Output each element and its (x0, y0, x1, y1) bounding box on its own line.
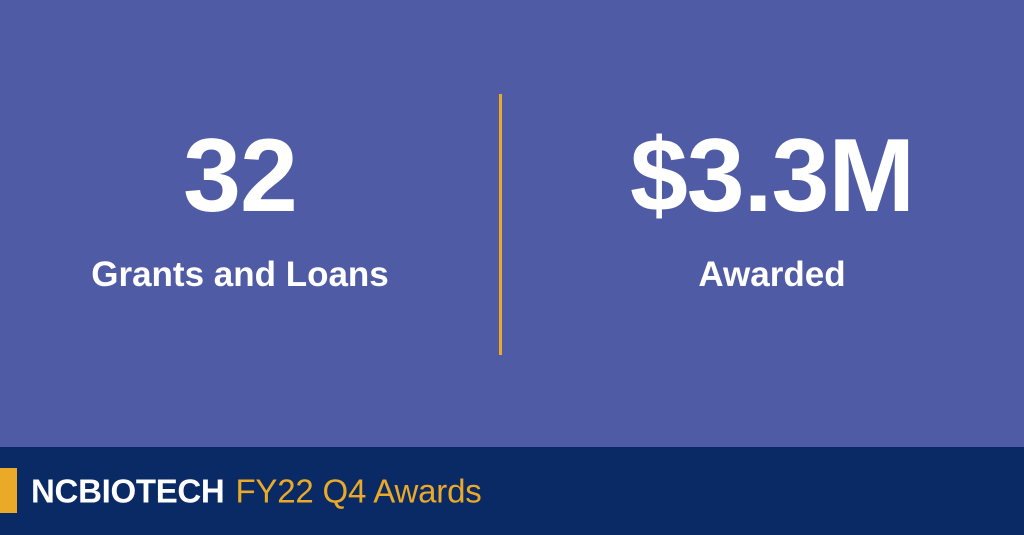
stat-label-awarded: Awarded (630, 256, 914, 295)
stat-value-grants-and-loans: 32 (91, 124, 389, 228)
stat-block-grants-and-loans: 32 Grants and Loans (0, 0, 480, 447)
footer-bar: NCBIOTECHFY22 Q4 Awards (0, 447, 1024, 535)
footer-brand-name: NCBIOTECH (31, 473, 224, 510)
stat-block-awarded: $3.3M Awarded (520, 0, 1024, 447)
stat-value-awarded: $3.3M (630, 124, 914, 228)
stat-inner-right: $3.3M Awarded (630, 124, 914, 295)
footer-gold-accent-block (0, 468, 17, 513)
stat-inner-left: 32 Grants and Loans (91, 124, 389, 295)
vertical-gold-divider (499, 94, 502, 355)
stat-label-grants-and-loans: Grants and Loans (91, 256, 389, 295)
footer-caption: FY22 Q4 Awards (235, 473, 481, 510)
infographic-canvas: 32 Grants and Loans $3.3M Awarded NCBIOT… (0, 0, 1024, 535)
footer-text-group: NCBIOTECHFY22 Q4 Awards (31, 475, 482, 508)
stats-area: 32 Grants and Loans $3.3M Awarded (0, 0, 1024, 447)
